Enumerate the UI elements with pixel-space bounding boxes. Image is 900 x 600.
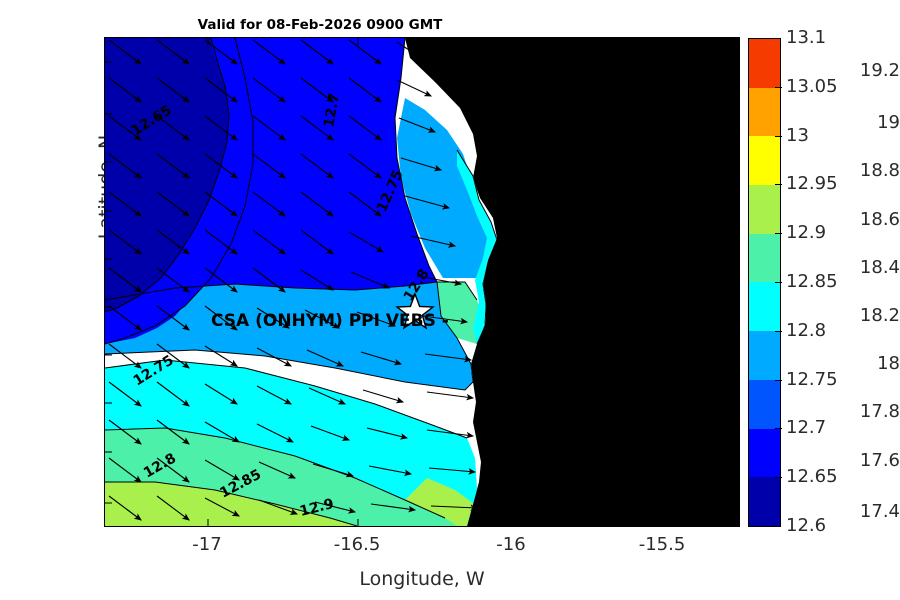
colorbar-tickmark-3 (775, 184, 782, 185)
colorbar-segment-5 (749, 282, 780, 331)
station-label: CSA (ONHYM) PPI VEBS - (211, 311, 449, 331)
colorbar-tick-8: 12.7 (786, 417, 826, 438)
y-tick-9: 17.4 (822, 501, 900, 522)
colorbar-tick-1: 13.05 (786, 76, 838, 97)
colorbar-tick-4: 12.9 (786, 222, 826, 243)
page-title: Valid for 08-Feb-2026 0900 GMT (0, 17, 640, 33)
wave-period-map[interactable]: 12.65 12.7 12.75 12.8 12.75 12.8 12.85 1… (104, 37, 740, 527)
x-tick-2: -16 (466, 534, 556, 555)
colorbar-tickmark-6 (775, 331, 782, 332)
colorbar-tickmark-9 (775, 477, 782, 478)
colorbar-tick-7: 12.75 (786, 369, 838, 390)
colorbar-tick-10: 12.6 (786, 515, 826, 536)
colorbar-segment-6 (749, 331, 780, 380)
colorbar-segment-4 (749, 234, 780, 283)
colorbar-tick-0: 13.1 (786, 27, 826, 48)
colorbar-tickmark-7 (775, 380, 782, 381)
colorbar-segment-0 (749, 39, 780, 88)
colorbar-tick-5: 12.85 (786, 271, 838, 292)
y-tick-7: 17.8 (822, 401, 900, 422)
colorbar-tickmark-1 (775, 87, 782, 88)
colorbar-segment-3 (749, 185, 780, 234)
colorbar-segment-9 (749, 477, 780, 526)
colorbar-segment-1 (749, 88, 780, 137)
colorbar-tick-2: 13 (786, 125, 809, 146)
colorbar-tick-6: 12.8 (786, 320, 826, 341)
colorbar-tick-3: 12.95 (786, 173, 838, 194)
x-tick-1: -16.5 (312, 534, 402, 555)
y-tick-1: 19 (822, 112, 900, 133)
x-axis-label: Longitude, W (104, 568, 740, 590)
x-tick-0: -17 (162, 534, 252, 555)
colorbar-tickmark-5 (775, 282, 782, 283)
colorbar-segment-2 (749, 136, 780, 185)
y-tick-5: 18.2 (822, 305, 900, 326)
y-tick-3: 18.6 (822, 209, 900, 230)
colorbar-tick-9: 12.65 (786, 466, 838, 487)
x-tick-3: -15.5 (617, 534, 707, 555)
colorbar-tickmark-8 (775, 428, 782, 429)
colorbar-tickmark-2 (775, 136, 782, 137)
colorbar-segment-7 (749, 380, 780, 429)
colorbar-segment-8 (749, 429, 780, 478)
map-canvas: 12.65 12.7 12.75 12.8 12.75 12.8 12.85 1… (105, 38, 739, 526)
colorbar-tickmark-4 (775, 233, 782, 234)
